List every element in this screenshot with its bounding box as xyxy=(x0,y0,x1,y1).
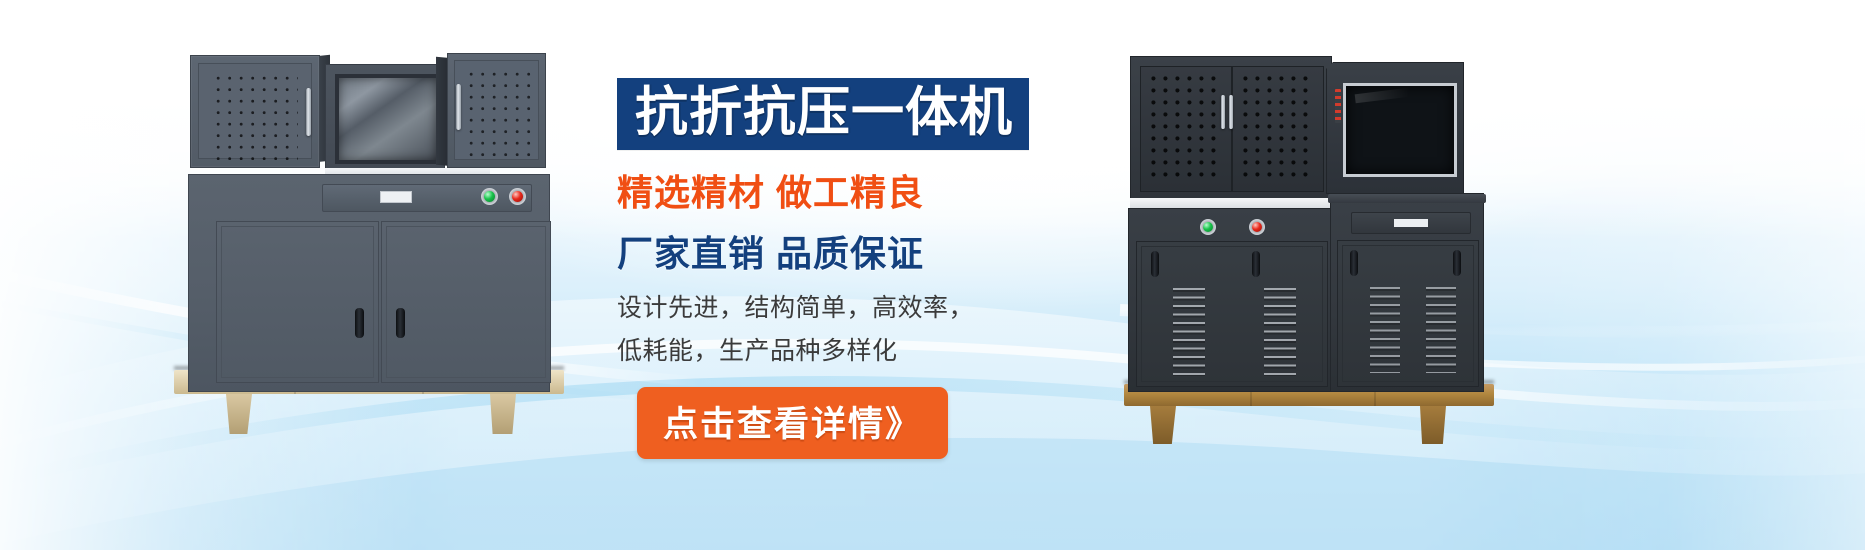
body-door-left[interactable] xyxy=(216,221,379,383)
cta-button[interactable]: 点击查看详情》 xyxy=(637,387,948,459)
body-door-2[interactable] xyxy=(1337,240,1479,387)
screen-glare xyxy=(1354,88,1409,103)
perforation-grid xyxy=(1151,76,1221,182)
cabinet-handle[interactable] xyxy=(306,88,311,136)
description-line-1: 设计先进，结构简单，高效率， xyxy=(617,288,1087,329)
machine-body-right-right-section xyxy=(1330,193,1484,392)
ventilation-louver xyxy=(1370,287,1400,373)
control-drawer[interactable] xyxy=(322,184,532,212)
pallet-foot xyxy=(226,394,252,434)
drawer-label-plate xyxy=(1394,219,1428,227)
red-indicator[interactable] xyxy=(1252,222,1262,232)
body-door-1[interactable] xyxy=(1136,241,1328,387)
headline-bar: 抗折抗压一体机 xyxy=(617,78,1029,150)
body-top-ledge xyxy=(1328,194,1486,203)
pallet-foot xyxy=(490,394,516,434)
crt-monitor xyxy=(1343,83,1457,177)
ventilation-louver xyxy=(1426,287,1456,373)
perforated-door-2[interactable] xyxy=(1232,66,1324,192)
tagline-blue: 厂家直销 品质保证 xyxy=(617,225,1087,277)
door-handle[interactable] xyxy=(396,308,405,338)
pallet-foot xyxy=(1420,406,1446,444)
tagline-orange: 精选精材 做工精良 xyxy=(617,164,1087,216)
perforated-door-1[interactable] xyxy=(1140,66,1232,192)
green-indicator[interactable] xyxy=(484,191,495,202)
description-line-2: 低耗能，生产品种多样化 xyxy=(617,331,1087,372)
perforation-grid xyxy=(216,76,298,160)
drawer-label-plate xyxy=(380,191,412,203)
door-handle[interactable] xyxy=(1252,251,1260,277)
product-image-right-machine xyxy=(1120,48,1500,388)
door-handle[interactable] xyxy=(355,308,364,338)
door-inset xyxy=(1141,246,1323,382)
door-handle[interactable] xyxy=(1151,251,1159,277)
monitor-housing xyxy=(1326,62,1464,194)
green-indicator[interactable] xyxy=(1203,222,1213,232)
cabinet-handle[interactable] xyxy=(456,84,461,130)
ventilation-louver xyxy=(1173,288,1205,376)
ventilation-louver xyxy=(1264,288,1296,376)
headline-text: 抗折抗压一体机 xyxy=(635,85,1013,140)
machine-body-right-left-section xyxy=(1128,208,1335,392)
control-screen-housing xyxy=(325,64,445,170)
pallet-foot xyxy=(1150,406,1176,444)
body-door-right[interactable] xyxy=(381,221,551,383)
door-inset xyxy=(1342,245,1474,382)
status-button-strip xyxy=(1335,89,1341,123)
perforation-grid xyxy=(469,72,535,158)
perforated-cabinet-left xyxy=(190,55,320,168)
red-indicator[interactable] xyxy=(512,191,523,202)
cta-button-label: 点击查看详情》 xyxy=(663,396,922,447)
upper-cabinet-right-machine xyxy=(1130,56,1332,200)
door-inset xyxy=(386,226,546,378)
door-handle[interactable] xyxy=(1350,250,1358,276)
door-handle[interactable] xyxy=(1453,250,1461,276)
machine-body-left xyxy=(188,174,550,392)
cabinet-face xyxy=(198,63,312,159)
promo-banner: 抗折抗压一体机 精选精材 做工精良 厂家直销 品质保证 设计先进，结构简单，高效… xyxy=(0,0,1865,550)
control-screen xyxy=(335,74,440,164)
door-inset xyxy=(221,226,374,378)
perforated-cabinet-right xyxy=(447,53,546,168)
product-image-left-machine xyxy=(170,48,570,388)
control-drawer[interactable] xyxy=(1351,212,1471,234)
banner-copy-block: 抗折抗压一体机 精选精材 做工精良 厂家直销 品质保证 设计先进，结构简单，高效… xyxy=(617,78,1087,459)
cabinet-face xyxy=(454,60,539,160)
perforation-grid xyxy=(1243,76,1313,182)
background-right-fade xyxy=(1505,0,1865,550)
